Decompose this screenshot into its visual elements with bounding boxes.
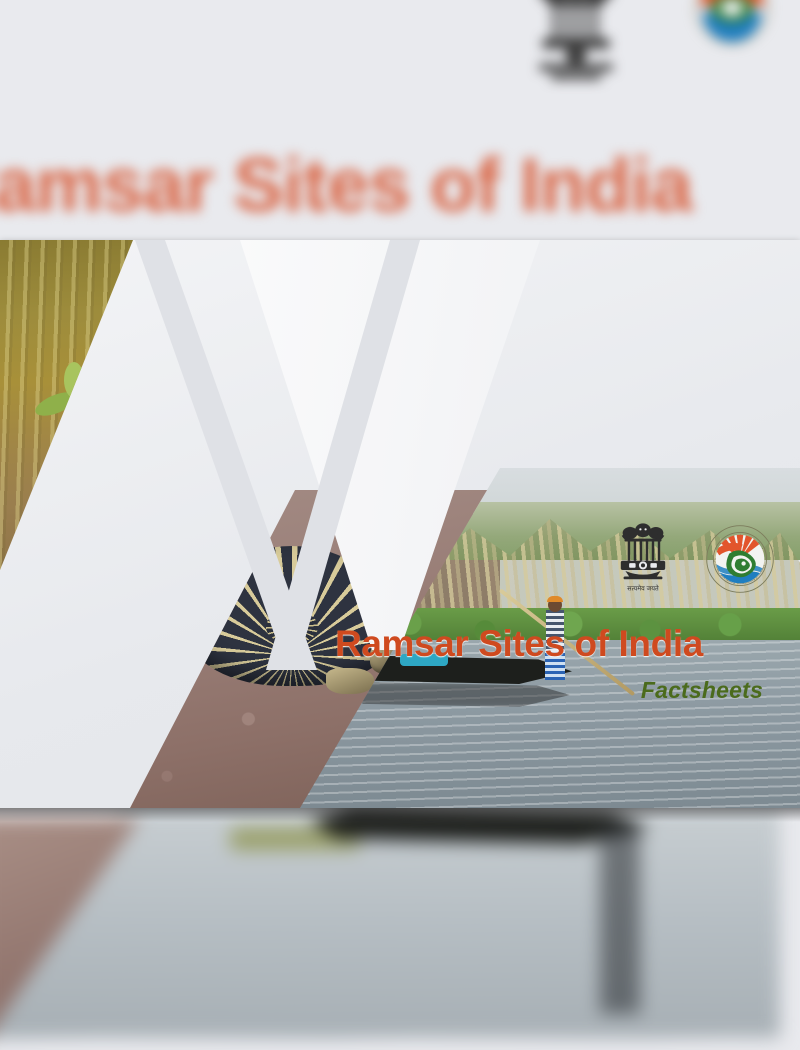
blur-layer: Ramsar Sites of India <box>0 0 800 245</box>
background-title-text: Ramsar Sites of India <box>0 148 800 224</box>
state-emblem-of-india-icon: सत्यमेव जयते <box>612 521 674 595</box>
state-emblem-of-india-icon <box>530 0 622 88</box>
boatman-cap <box>547 596 563 602</box>
cover-subtitle: Factsheets <box>335 677 763 704</box>
background-page-preview-top: Ramsar Sites of India <box>0 0 800 245</box>
blurred-pole-reflection <box>600 824 640 1014</box>
background-page-preview-bottom <box>0 808 800 1050</box>
page-drop-shadow <box>0 808 800 822</box>
blur-layer <box>0 808 800 1050</box>
emblem-motto: सत्यमेव जयते <box>627 584 659 592</box>
cover-page: सत्यमेव जयते पर्यावरण, वन एवं जलवायु परि… <box>0 240 800 808</box>
cover-title: Ramsar Sites of India <box>335 625 775 662</box>
ministry-of-environment-emblem-icon <box>690 0 774 50</box>
emblem-row: सत्यमेव जयते पर्यावरण, वन एवं जलवायु परि… <box>612 521 777 597</box>
ministry-of-environment-emblem-icon: पर्यावरण, वन एवं जलवायु परिवर्तन Ministr… <box>704 523 776 595</box>
